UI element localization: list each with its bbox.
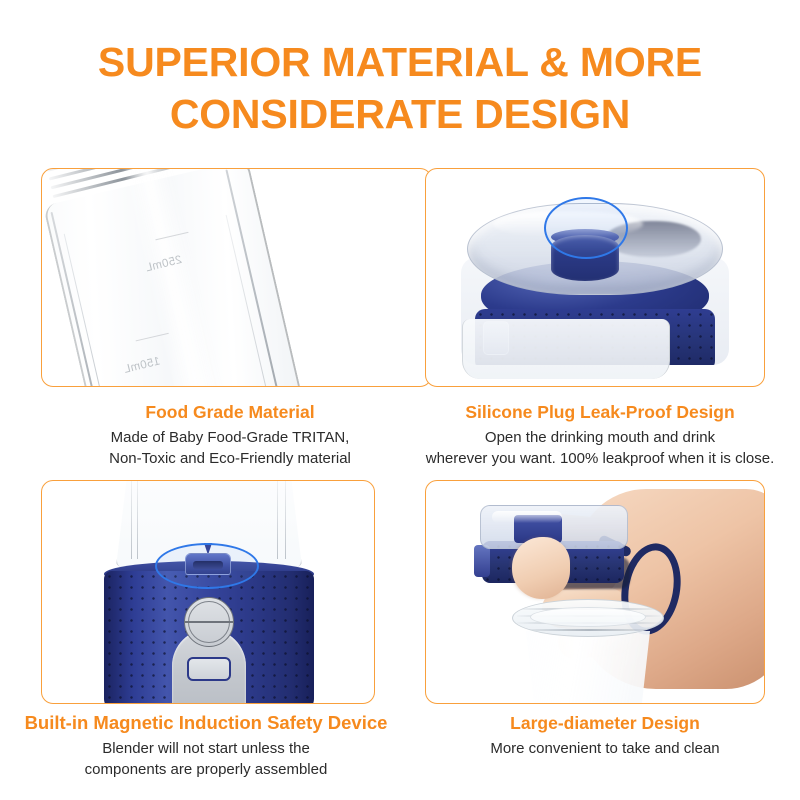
feature-title: Food Grade Material xyxy=(30,400,430,424)
power-button-line xyxy=(184,621,234,623)
thumb xyxy=(512,537,570,599)
page-title-line-2: CONSIDERATE DESIGN xyxy=(0,88,800,140)
jar-body xyxy=(522,631,654,703)
tritan-bottle-graphic: 250mL 150mL xyxy=(42,169,337,386)
feature-title: Silicone Plug Leak-Proof Design xyxy=(404,400,796,424)
cap-shine xyxy=(493,211,643,237)
feature-caption-food-grade-material: Food Grade Material Made of Baby Food-Gr… xyxy=(30,400,430,469)
bottle-top-section xyxy=(462,319,670,379)
feature-description: Made of Baby Food-Grade TRITAN, Non-Toxi… xyxy=(30,427,430,469)
lid-latch xyxy=(474,545,490,577)
feature-description: Open the drinking mouth and drink wherev… xyxy=(404,427,796,469)
feature-image-panel-built-in-magnetic-induction-safety-device xyxy=(41,480,375,704)
feature-caption-built-in-magnetic-induction-safety-device: Built-in Magnetic Induction Safety Devic… xyxy=(6,711,406,780)
feature-image-panel-food-grade-material: 250mL 150mL xyxy=(41,168,432,387)
product-photo-tritan-bottle: 250mL 150mL xyxy=(42,169,431,386)
magnetic-induction-slot xyxy=(193,561,223,569)
wide-mouth-jar-graphic xyxy=(512,599,664,703)
feature-description: Blender will not start unless the compon… xyxy=(6,738,406,780)
product-photo-blender-base xyxy=(42,481,374,703)
product-photo-blender-lid xyxy=(426,169,764,386)
feature-description: More convenient to take and clean xyxy=(420,738,790,759)
mode-button[interactable] xyxy=(187,657,231,681)
page-title-line-1: SUPERIOR MATERIAL & MORE xyxy=(98,39,702,85)
silicone-plug xyxy=(551,235,619,281)
blender-base-graphic xyxy=(58,481,358,703)
page-title: SUPERIOR MATERIAL & MORE CONSIDERATE DES… xyxy=(0,36,800,140)
infographic-page: SUPERIOR MATERIAL & MORE CONSIDERATE DES… xyxy=(0,0,800,800)
product-photo-hand-with-lid xyxy=(426,481,764,703)
cap-shine xyxy=(492,511,562,523)
feature-title: Built-in Magnetic Induction Safety Devic… xyxy=(6,711,406,735)
jar-wide-mouth-opening xyxy=(530,607,646,627)
feature-caption-large-diameter-design: Large-diameter Design More convenient to… xyxy=(420,711,790,759)
feature-title: Large-diameter Design xyxy=(420,711,790,735)
base-housing xyxy=(104,571,314,703)
feature-caption-silicone-plug-leak-proof-design: Silicone Plug Leak-Proof Design Open the… xyxy=(404,400,796,469)
feature-image-panel-silicone-plug-leak-proof-design xyxy=(425,168,765,387)
feature-image-panel-large-diameter-design xyxy=(425,480,765,704)
